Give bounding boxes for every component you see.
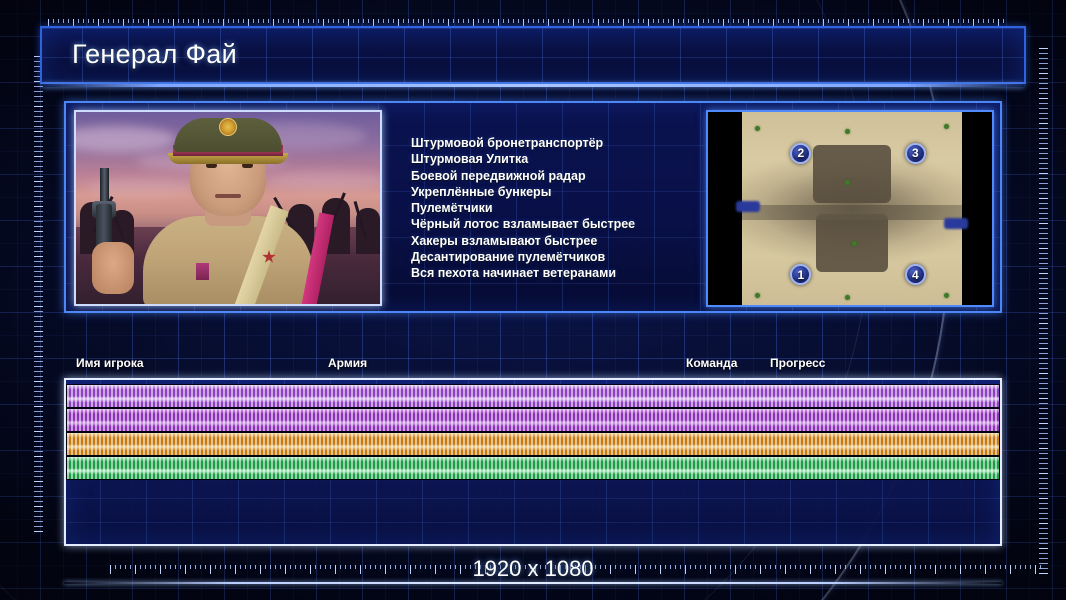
player-progress-bar [66,456,266,470]
cap-badge-icon [219,118,237,136]
map-start-position-2[interactable]: 2 [790,143,811,164]
resolution-label: 1920 x 1080 [0,556,1066,582]
ability-item: Чёрный лотос взламывает быстрее [411,216,721,232]
map-preview: 2 3 1 4 [706,110,994,307]
ability-item: Боевой передвижной радар [411,168,721,184]
ability-item: Десантирование пулемётчиков [411,249,721,265]
general-torso [143,216,313,306]
cloud-shape [266,170,382,190]
player-table: Имя игрока Армия Команда Прогресс 2vs2go… [64,356,1002,546]
ability-item: Штурмовая Улитка [411,151,721,167]
column-header-team: Команда [686,356,737,370]
medal-icon [196,263,209,280]
general-info-panel: Штурмовой бронетранспортёр Штурмовая Ули… [64,101,1002,313]
ability-item: Хакеры взламывают быстрее [411,233,721,249]
map-tree-icon [845,129,850,134]
map-terrain-feature [813,145,891,203]
general-mouth [215,194,241,198]
column-header-army: Армия [328,356,367,370]
map-start-position-3[interactable]: 3 [905,143,926,164]
column-header-progress: Прогресс [770,356,825,370]
title-underline [42,84,1024,87]
main-frame: Генерал Фай [40,26,1026,566]
player-progress-bar [66,432,266,446]
map-water [944,218,968,229]
title-bar: Генерал Фай [40,26,1026,84]
column-header-name: Имя игрока [76,356,144,370]
map-water [736,201,760,212]
ruler-right [1039,48,1048,578]
table-row[interactable]: 2v2 Случайно 1 [66,456,1000,480]
player-progress-bar [66,384,266,398]
map-tree-icon [845,295,850,300]
ability-item: Вся пехота начинает ветеранами [411,265,721,281]
map-tree-icon [755,126,760,131]
map-tree-icon [944,293,949,298]
player-progress-bar [66,408,266,422]
table-row[interactable]: 2vs2go Случайно 1 [66,384,1000,408]
table-row[interactable]: DES Химический генерал МАО 2 [66,408,1000,432]
footer-divider [64,582,1002,584]
map-start-position-4[interactable]: 4 [905,264,926,285]
map-tree-icon [944,124,949,129]
player-list-box: 2vs2go Случайно 1 DES Химический генерал… [64,378,1002,546]
player-table-header: Имя игрока Армия Команда Прогресс [64,356,1002,376]
table-row[interactable]: SHAM_01 Пехотный китайский генерал 2 [66,432,1000,456]
map-image: 2 3 1 4 [742,112,962,305]
general-hand [92,242,134,294]
ruler-left [34,56,43,532]
map-start-position-1[interactable]: 1 [790,264,811,285]
ability-item: Укреплённые бункеры [411,184,721,200]
page-title: Генерал Фай [72,39,237,70]
ability-item: Пулемётчики [411,200,721,216]
ability-list: Штурмовой бронетранспортёр Штурмовая Ули… [411,135,721,282]
map-river [742,205,962,220]
general-portrait [74,110,382,306]
ability-item: Штурмовой бронетранспортёр [411,135,721,151]
map-tree-icon [755,293,760,298]
